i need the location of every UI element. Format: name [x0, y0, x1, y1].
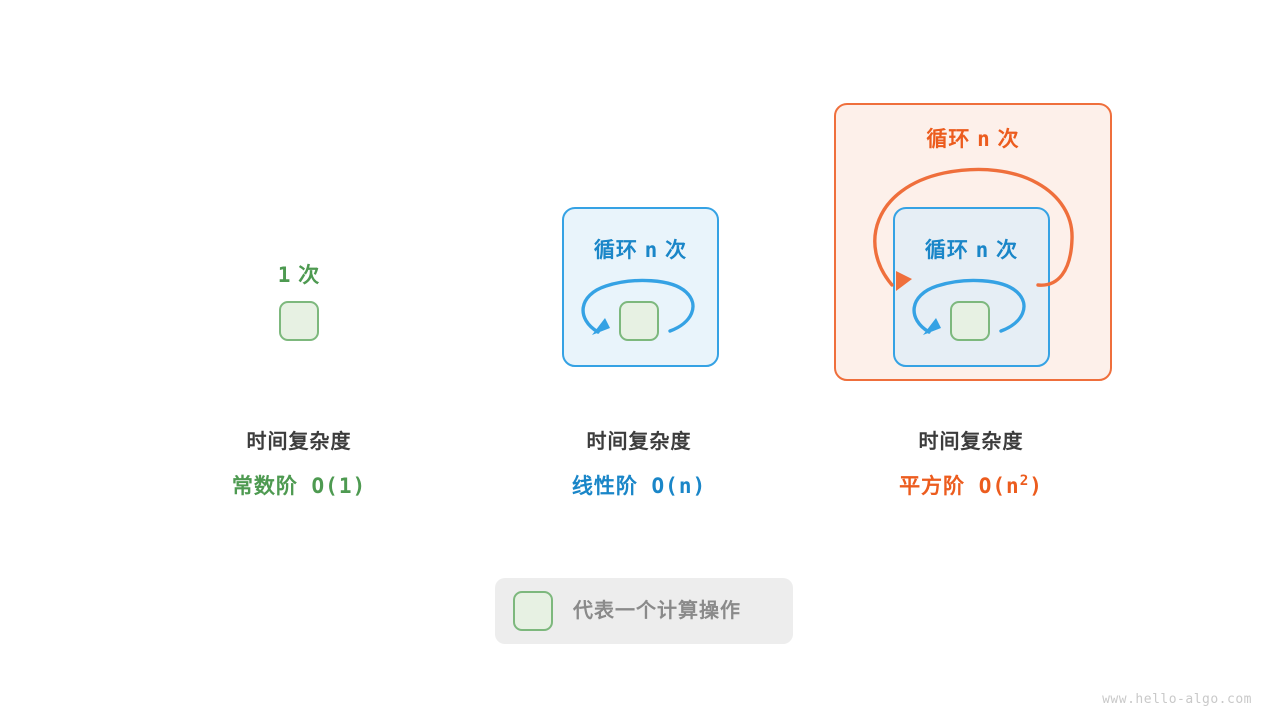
- watermark: www.hello-algo.com: [1102, 692, 1252, 707]
- quadratic-inner-loop-caption: 循环 n 次: [893, 234, 1050, 264]
- notation-arg: n: [679, 474, 693, 498]
- diagram-canvas: 1 次 时间复杂度 常数阶 O(1) 循环 n 次 时间复杂度 线性阶 O(n): [0, 0, 1280, 720]
- linear-complexity-notation: O(n): [652, 474, 707, 498]
- notation-close: ): [1029, 474, 1043, 498]
- loop-arrow-icon: [893, 207, 1050, 367]
- constant-count-unit: 次: [298, 264, 320, 287]
- inner-loop-caption-suffix: 次: [996, 239, 1018, 262]
- inner-loop-caption-var: n: [976, 238, 990, 262]
- notation-arg: 1: [339, 474, 353, 498]
- notation-close: ): [352, 474, 366, 498]
- quadratic-complexity-value: 平方阶 O(n2): [791, 470, 1151, 500]
- constant-complexity-name: 常数阶: [232, 475, 298, 498]
- constant-complexity-notation: O(1): [312, 474, 367, 498]
- notation-arg: n: [1006, 474, 1020, 498]
- operation-square-icon: [619, 301, 659, 341]
- panel-quadratic-complexity: 循环 n 次 循环 n 次 时间复杂度 平方阶 O(n2): [792, 0, 1152, 720]
- legend-label: 代表一个计算操作: [573, 578, 741, 644]
- constant-complexity-title: 时间复杂度: [119, 425, 479, 454]
- notation-close: ): [692, 474, 706, 498]
- linear-complexity-value: 线性阶 O(n): [459, 470, 819, 500]
- legend: 代表一个计算操作: [495, 578, 793, 644]
- notation-open: O(: [312, 474, 339, 498]
- constant-count-number: 1: [278, 263, 292, 287]
- quadratic-complexity-notation: O(n2): [979, 474, 1043, 498]
- operation-square-icon: [950, 301, 990, 341]
- panel-constant-complexity: 1 次 时间复杂度 常数阶 O(1): [119, 0, 479, 720]
- quadratic-complexity-title: 时间复杂度: [791, 425, 1151, 454]
- linear-complexity-title: 时间复杂度: [459, 425, 819, 454]
- linear-complexity-name: 线性阶: [572, 475, 638, 498]
- notation-open: O(: [652, 474, 679, 498]
- constant-count-label: 1 次: [119, 259, 479, 289]
- loop-arrow-icon: [562, 207, 719, 367]
- quadratic-complexity-name: 平方阶: [899, 475, 965, 498]
- inner-loop-caption-prefix: 循环: [925, 239, 969, 262]
- notation-open: O(: [979, 474, 1006, 498]
- operation-square-icon: [513, 591, 553, 631]
- constant-complexity-value: 常数阶 O(1): [119, 470, 479, 500]
- notation-exponent: 2: [1020, 473, 1030, 489]
- operation-square-icon: [279, 301, 319, 341]
